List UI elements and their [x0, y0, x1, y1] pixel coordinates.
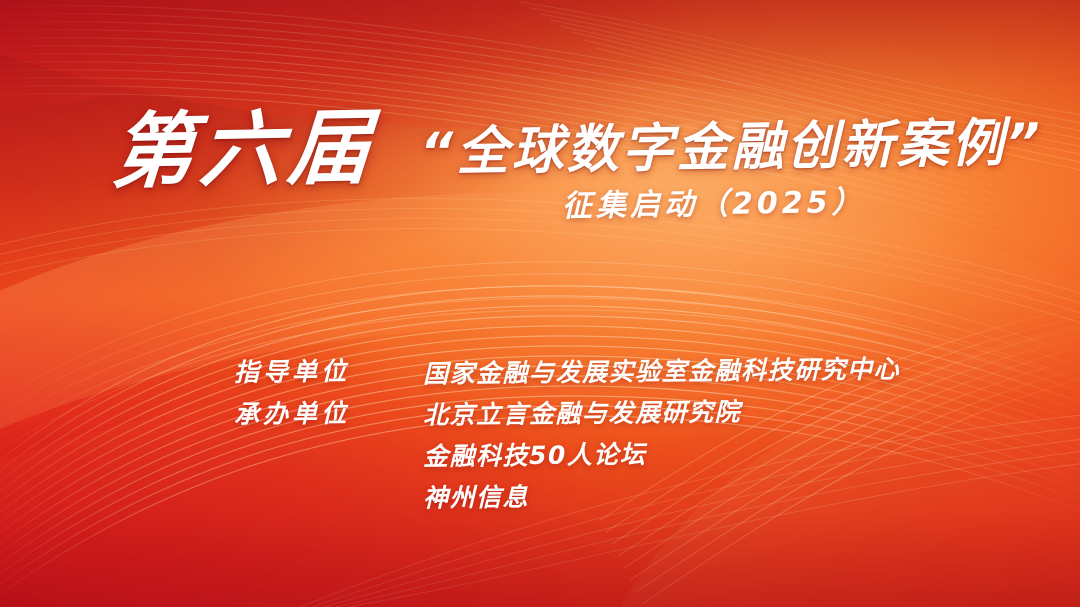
list-item: 神州信息 [0, 484, 1080, 526]
list-item: 指导单位 国家金融与发展实验室金融科技研究中心 [0, 358, 1080, 400]
page-title: “全球数字金融创新案例” [420, 117, 1044, 179]
org-label [234, 441, 404, 443]
org-value: 金融科技50人论坛 [423, 441, 647, 471]
poster-canvas: 第六届 “全球数字金融创新案例” 征集启动（2025） 指导单位 国家金融与发展… [0, 0, 1080, 607]
org-value: 神州信息 [423, 483, 529, 512]
org-label: 承办单位 [234, 399, 404, 429]
subtitle: 征集启动（2025） [562, 188, 866, 222]
organization-list: 指导单位 国家金融与发展实验室金融科技研究中心 承办单位 北京立言金融与发展研究… [0, 358, 1080, 526]
edition-number: 第六届 [109, 107, 379, 194]
org-value: 北京立言金融与发展研究院 [423, 398, 741, 429]
list-item: 承办单位 北京立言金融与发展研究院 [0, 400, 1080, 442]
org-value: 国家金融与发展实验室金融科技研究中心 [423, 356, 900, 389]
org-label [234, 483, 404, 485]
list-item: 金融科技50人论坛 [0, 442, 1080, 484]
headline-row: 第六届 “全球数字金融创新案例” 征集启动（2025） [0, 108, 1080, 223]
org-label: 指导单位 [234, 357, 404, 387]
